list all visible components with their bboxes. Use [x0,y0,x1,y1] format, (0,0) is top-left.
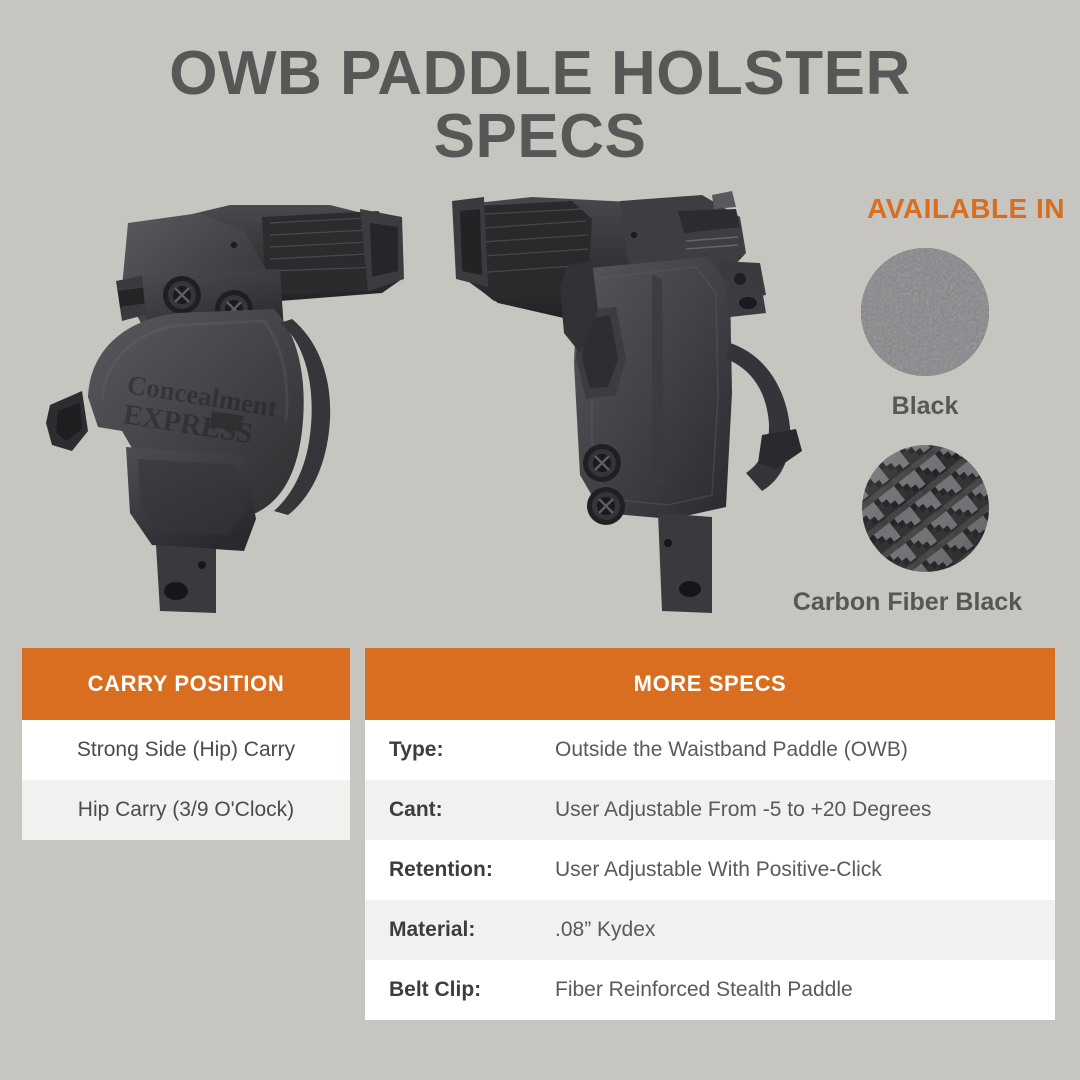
table-row: Retention: User Adjustable With Positive… [365,840,1055,900]
retention-screw-1 [583,444,621,482]
carry-position-header: CARRY POSITION [22,648,350,720]
paddle-tongue [156,545,216,613]
table-row: Material: .08” Kydex [365,900,1055,960]
page-title: OWB PADDLE HOLSTER SPECS [0,42,1080,168]
carry-position-value: Hip Carry (3/9 O'Clock) [22,798,350,822]
spec-key: Retention: [365,858,541,882]
spec-value: User Adjustable From -5 to +20 Degrees [541,798,931,822]
black-texture-swatch[interactable] [861,248,989,376]
carry-position-value: Strong Side (Hip) Carry [22,738,350,762]
spec-key: Cant: [365,798,541,822]
table-row: Strong Side (Hip) Carry [22,720,350,780]
paddle-tongue [658,513,712,613]
table-row: Type: Outside the Waistband Paddle (OWB) [365,720,1055,780]
spec-key: Belt Clip: [365,978,541,1002]
retention-screw-1 [163,276,201,314]
retention-screw-2 [587,487,625,525]
spec-value: User Adjustable With Positive-Click [541,858,882,882]
stealth-paddle [726,343,790,491]
spec-value: .08” Kydex [541,918,655,942]
holster-back-view-image: Concealment EXPRESS [30,183,430,623]
spec-value: Outside the Waistband Paddle (OWB) [541,738,908,762]
carry-position-table: CARRY POSITION Strong Side (Hip) Carry H… [22,648,350,840]
more-specs-header: MORE SPECS [365,648,1055,720]
spec-key: Material: [365,918,541,942]
spec-key: Type: [365,738,541,762]
page-title-line-1: OWB PADDLE HOLSTER [0,42,1080,105]
spec-value: Fiber Reinforced Stealth Paddle [541,978,853,1002]
black-swatch-label: Black [795,392,1055,421]
carbon-fiber-texture-swatch[interactable] [862,445,989,572]
table-row: Belt Clip: Fiber Reinforced Stealth Padd… [365,960,1055,1020]
carbon-fiber-swatch-label: Carbon Fiber Black [760,588,1055,617]
page-title-line-2: SPECS [0,105,1080,168]
more-specs-table: MORE SPECS Type: Outside the Waistband P… [365,648,1055,1020]
table-row: Hip Carry (3/9 O'Clock) [22,780,350,840]
available-in-heading: AVAILABLE IN [780,193,1065,225]
holster-front-view-image [440,183,830,623]
table-row: Cant: User Adjustable From -5 to +20 Deg… [365,780,1055,840]
